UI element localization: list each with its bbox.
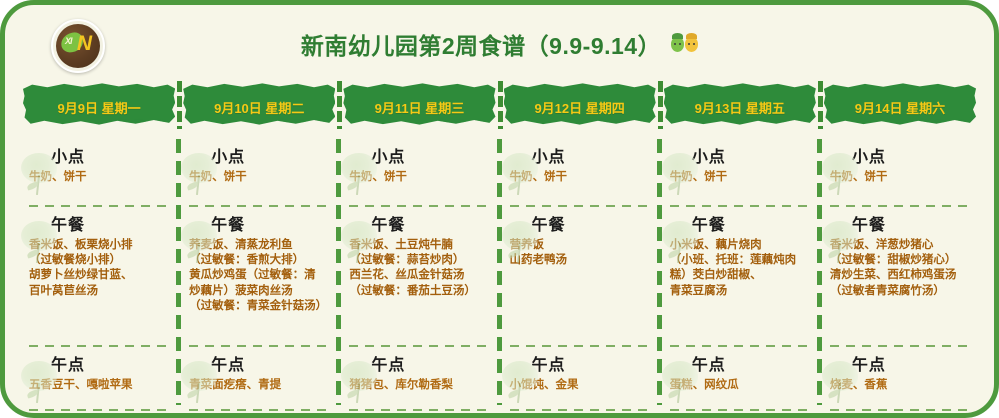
menu-column-tuesday: 小点 牛奶、饼干 午餐 荞麦饭、清蒸龙利鱼 （过敏餐：香煎大排） 黄瓜炒鸡蛋（过… bbox=[179, 139, 339, 411]
meal-divider bbox=[670, 409, 808, 411]
day-header-thursday: 9月12日 星期四 bbox=[500, 79, 660, 135]
meal-title: 午点 bbox=[692, 351, 812, 375]
title-row: 新南幼儿园第2周食谱（9.9-9.14） bbox=[5, 27, 994, 61]
menu-column-saturday: 小点 牛奶、饼干 午餐 香米饭、洋葱炒猪心 （过敏餐：甜椒炒猪心） 清炒生菜、西… bbox=[820, 139, 980, 411]
meal-title: 午点 bbox=[211, 351, 331, 375]
meal-items: 青菜面疙瘩、青提 bbox=[189, 378, 331, 393]
meal-morning-snack: 小点 牛奶、饼干 bbox=[347, 139, 491, 207]
meal-lunch: 午餐 营养饭 山药老鸭汤 bbox=[508, 207, 652, 347]
meal-items: 香米饭、板栗烧小排 （过敏餐烧小排） 胡萝卜丝炒绿甘蓝、 百叶莴苣丝汤 bbox=[29, 238, 171, 299]
meal-items: 牛奶、饼干 bbox=[29, 170, 171, 185]
poster-header: XI N 新南幼儿园第2周食谱（9.9-9.14） bbox=[5, 5, 994, 79]
menu-column-thursday: 小点 牛奶、饼干 午餐 营养饭 山药老鸭汤 午点 小馄饨、金果 bbox=[500, 139, 660, 411]
meal-title: 午餐 bbox=[852, 211, 972, 235]
meal-divider bbox=[830, 409, 968, 411]
meal-divider bbox=[29, 409, 167, 411]
menu-column-wednesday: 小点 牛奶、饼干 午餐 香米饭、土豆炖牛腩 （过敏餐：蒜苔炒肉） 西兰花、丝瓜金… bbox=[339, 139, 499, 411]
page-title: 新南幼儿园第2周食谱（9.9-9.14） bbox=[301, 27, 661, 61]
meal-afternoon-snack: 午点 蛋糕、网纹瓜 bbox=[668, 347, 812, 411]
meal-morning-snack: 小点 牛奶、饼干 bbox=[668, 139, 812, 207]
meal-items: 烧麦、香蕉 bbox=[830, 378, 972, 393]
kid-green-eye-left bbox=[674, 43, 676, 45]
meal-afternoon-snack: 午点 烧麦、香蕉 bbox=[828, 347, 972, 411]
logo-text-xi: XI bbox=[65, 36, 72, 46]
meal-afternoon-snack: 午点 五香豆干、嘎啦苹果 bbox=[27, 347, 171, 411]
meal-afternoon-snack: 午点 猪猪包、库尔勒香梨 bbox=[347, 347, 491, 411]
meal-items: 牛奶、饼干 bbox=[510, 170, 652, 185]
day-header-friday: 9月13日 星期五 bbox=[660, 79, 820, 135]
meal-title: 午点 bbox=[51, 351, 171, 375]
meal-title: 午点 bbox=[532, 351, 652, 375]
day-label: 9月13日 星期五 bbox=[695, 98, 785, 117]
meal-title: 午点 bbox=[852, 351, 972, 375]
kid-green-eye-right bbox=[679, 43, 681, 45]
meal-lunch: 午餐 小米饭、藕片烧肉 （小班、托班：莲藕炖肉 糕）茭白炒甜椒、 青菜豆腐汤 bbox=[668, 207, 812, 347]
meal-title: 小点 bbox=[852, 143, 972, 167]
day-label: 9月14日 星期六 bbox=[855, 98, 945, 117]
meal-title: 午餐 bbox=[211, 211, 331, 235]
logo-text-n: N bbox=[77, 33, 92, 54]
kid-green-icon bbox=[671, 37, 684, 52]
day-header-tuesday: 9月10日 星期二 bbox=[179, 79, 339, 135]
meal-items: 牛奶、饼干 bbox=[349, 170, 491, 185]
day-label: 9月9日 星期一 bbox=[58, 98, 141, 117]
meal-lunch: 午餐 荞麦饭、清蒸龙利鱼 （过敏餐：香煎大排） 黄瓜炒鸡蛋（过敏餐：清 炒藕片）… bbox=[187, 207, 331, 347]
meal-divider bbox=[189, 409, 327, 411]
meal-divider bbox=[510, 409, 648, 411]
meal-title: 小点 bbox=[692, 143, 812, 167]
menu-poster: XI N 新南幼儿园第2周食谱（9.9-9.14） bbox=[0, 0, 999, 418]
day-header-monday: 9月9日 星期一 bbox=[19, 79, 179, 135]
meal-items: 五香豆干、嘎啦苹果 bbox=[29, 378, 171, 393]
kid-yellow-eye-left bbox=[688, 43, 690, 45]
kid-yellow-icon bbox=[685, 37, 698, 52]
meal-items: 猪猪包、库尔勒香梨 bbox=[349, 378, 491, 393]
meal-title: 午餐 bbox=[51, 211, 171, 235]
meal-lunch: 午餐 香米饭、土豆炖牛腩 （过敏餐：蒜苔炒肉） 西兰花、丝瓜金针菇汤 （过敏餐：… bbox=[347, 207, 491, 347]
meal-afternoon-snack: 午点 青菜面疙瘩、青提 bbox=[187, 347, 331, 411]
meal-items: 香米饭、土豆炖牛腩 （过敏餐：蒜苔炒肉） 西兰花、丝瓜金针菇汤 （过敏餐：番茄土… bbox=[349, 238, 491, 299]
kid-green-hat bbox=[672, 33, 683, 39]
meal-items: 小米饭、藕片烧肉 （小班、托班：莲藕炖肉 糕）茭白炒甜椒、 青菜豆腐汤 bbox=[670, 238, 812, 299]
day-label: 9月10日 星期二 bbox=[214, 98, 304, 117]
meal-morning-snack: 小点 牛奶、饼干 bbox=[508, 139, 652, 207]
meal-morning-snack: 小点 牛奶、饼干 bbox=[27, 139, 171, 207]
meal-title: 小点 bbox=[211, 143, 331, 167]
meal-items: 香米饭、洋葱炒猪心 （过敏餐：甜椒炒猪心） 清炒生菜、西红柿鸡蛋汤 （过敏者青菜… bbox=[830, 238, 972, 299]
meal-divider bbox=[349, 409, 487, 411]
meal-items: 荞麦饭、清蒸龙利鱼 （过敏餐：香煎大排） 黄瓜炒鸡蛋（过敏餐：清 炒藕片）菠菜肉… bbox=[189, 238, 331, 314]
meal-title: 小点 bbox=[51, 143, 171, 167]
menu-column-monday: 小点 牛奶、饼干 午餐 香米饭、板栗烧小排 （过敏餐烧小排） 胡萝卜丝炒绿甘蓝、… bbox=[19, 139, 179, 411]
meal-items: 牛奶、饼干 bbox=[830, 170, 972, 185]
day-header-row: 9月9日 星期一 9月10日 星期二 9月11日 星期三 9月12日 星期四 9… bbox=[5, 79, 994, 135]
meal-morning-snack: 小点 牛奶、饼干 bbox=[187, 139, 331, 207]
two-kids-icon bbox=[671, 37, 698, 52]
meal-title: 小点 bbox=[371, 143, 491, 167]
day-label: 9月12日 星期四 bbox=[534, 98, 624, 117]
meal-morning-snack: 小点 牛奶、饼干 bbox=[828, 139, 972, 207]
meal-title: 午餐 bbox=[692, 211, 812, 235]
kid-yellow-hat bbox=[686, 33, 697, 39]
meal-afternoon-snack: 午点 小馄饨、金果 bbox=[508, 347, 652, 411]
meal-title: 午餐 bbox=[371, 211, 491, 235]
kid-yellow-eye-right bbox=[693, 43, 695, 45]
day-label: 9月11日 星期三 bbox=[375, 98, 465, 117]
meal-title: 午餐 bbox=[532, 211, 652, 235]
menu-grid: 小点 牛奶、饼干 午餐 香米饭、板栗烧小排 （过敏餐烧小排） 胡萝卜丝炒绿甘蓝、… bbox=[5, 135, 994, 417]
menu-column-friday: 小点 牛奶、饼干 午餐 小米饭、藕片烧肉 （小班、托班：莲藕炖肉 糕）茭白炒甜椒… bbox=[660, 139, 820, 411]
meal-title: 小点 bbox=[532, 143, 652, 167]
meal-items: 牛奶、饼干 bbox=[670, 170, 812, 185]
day-header-wednesday: 9月11日 星期三 bbox=[339, 79, 499, 135]
meal-items: 蛋糕、网纹瓜 bbox=[670, 378, 812, 393]
meal-title: 午点 bbox=[371, 351, 491, 375]
meal-items: 牛奶、饼干 bbox=[189, 170, 331, 185]
meal-lunch: 午餐 香米饭、板栗烧小排 （过敏餐烧小排） 胡萝卜丝炒绿甘蓝、 百叶莴苣丝汤 bbox=[27, 207, 171, 347]
day-header-saturday: 9月14日 星期六 bbox=[820, 79, 980, 135]
meal-items: 营养饭 山药老鸭汤 bbox=[510, 238, 652, 268]
meal-lunch: 午餐 香米饭、洋葱炒猪心 （过敏餐：甜椒炒猪心） 清炒生菜、西红柿鸡蛋汤 （过敏… bbox=[828, 207, 972, 347]
meal-items: 小馄饨、金果 bbox=[510, 378, 652, 393]
